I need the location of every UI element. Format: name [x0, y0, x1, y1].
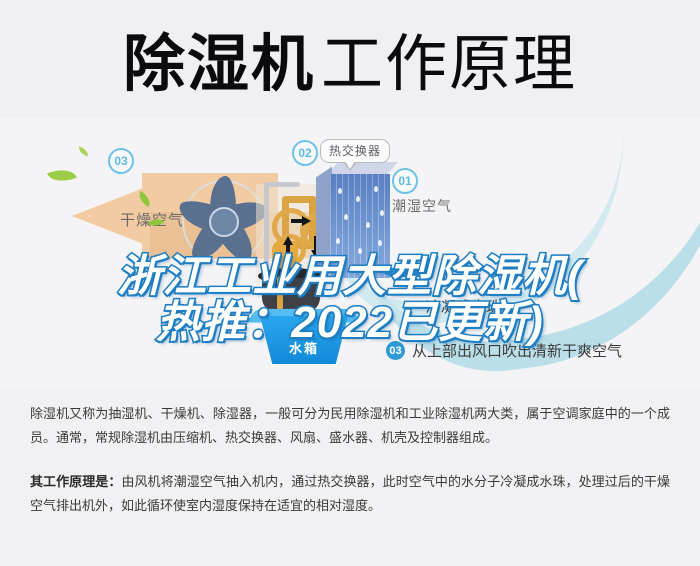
- leaf-icon: [47, 164, 77, 188]
- humid-air-intake-arrow-icon: [383, 266, 429, 279]
- flow-arrow-right-icon: [302, 216, 311, 226]
- hero-banner: 除湿机工作原理: [0, 0, 700, 130]
- water-droplet-icon: [366, 222, 370, 228]
- callout-tail-icon: [343, 162, 357, 171]
- heat-exchanger-callout-label: 热交换器: [329, 144, 381, 158]
- caption-02-text: 冷凝成水珠: [426, 296, 501, 317]
- page-title-part2: 工作原理: [321, 30, 577, 99]
- flow-arrow-stem: [286, 244, 290, 258]
- water-droplet-icon: [356, 196, 360, 202]
- article-paragraph-1: 除湿机又称为抽湿机、干燥机、除湿器，一般可分为民用除湿机和工业除湿机两大类，属于…: [30, 402, 670, 450]
- marker-01: 01: [392, 168, 418, 194]
- marker-02: 02: [292, 140, 318, 166]
- heat-exchanger-fins: [330, 174, 390, 278]
- humid-air-label: 潮湿空气: [392, 196, 452, 216]
- flow-arrow-up-icon: [283, 236, 293, 245]
- pipe-segment: [264, 184, 269, 272]
- water-droplet-icon: [380, 210, 384, 216]
- water-droplet-icon: [358, 248, 362, 254]
- water-droplet-icon: [344, 214, 348, 220]
- water-droplet-icon: [374, 186, 378, 192]
- article-paragraph-2-lead: 其工作原理是：: [30, 474, 121, 489]
- article-paragraph-2: 其工作原理是：由风机将潮湿空气抽入机内，通过热交换器，此时空气中的水分子冷凝成水…: [30, 470, 670, 518]
- water-droplet-icon: [348, 264, 352, 270]
- page-title-part1: 除湿机: [123, 30, 315, 99]
- caption-02: 02 冷凝成水珠: [400, 296, 501, 317]
- fan-hub: [209, 207, 239, 237]
- heat-exchanger-callout: 热交换器: [320, 139, 390, 163]
- water-tank-icon: 水箱: [252, 304, 356, 366]
- water-droplet-icon: [336, 238, 340, 244]
- article-body: 除湿机又称为抽湿机、干燥机、除湿器，一般可分为民用除湿机和工业除湿机两大类，属于…: [0, 402, 700, 538]
- marker-03: 03: [108, 148, 134, 174]
- water-droplet-icon: [378, 240, 382, 246]
- water-droplet-icon: [338, 188, 342, 194]
- heat-exchanger-icon: [330, 174, 390, 278]
- principle-illustration: 干燥空气: [0, 118, 700, 390]
- page-root: 除湿机工作原理 干燥空气: [0, 0, 700, 566]
- caption-03: 03 从上部出风口吹出清新干爽空气: [386, 340, 622, 361]
- caption-03-text: 从上部出风口吹出清新干爽空气: [412, 340, 622, 361]
- fan-icon: [176, 174, 268, 266]
- page-title: 除湿机工作原理: [0, 32, 700, 98]
- article-paragraph-2-rest: 由风机将潮湿空气抽入机内，通过热交换器，此时空气中的水分子冷凝成水珠，处理过后的…: [30, 474, 670, 513]
- pipe-segment: [264, 182, 300, 187]
- caption-03-dot: 03: [386, 341, 405, 360]
- water-tank-label: 水箱: [260, 338, 348, 357]
- leaf-icon: [77, 146, 90, 156]
- water-droplet-icon: [372, 266, 376, 272]
